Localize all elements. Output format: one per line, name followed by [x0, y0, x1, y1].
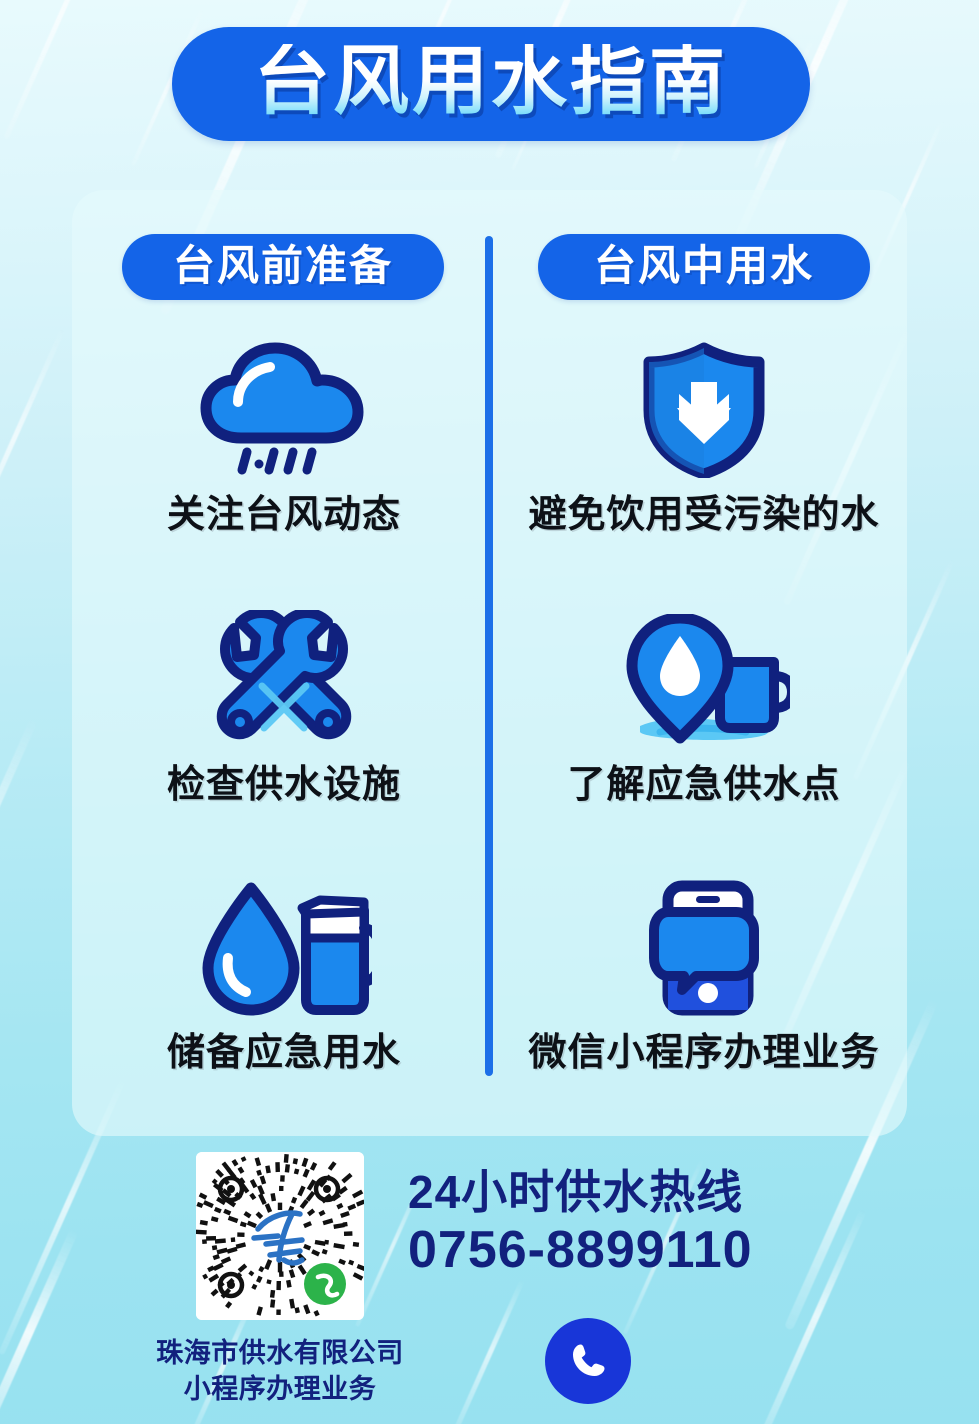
column-header-during-typhoon: 台风中用水: [538, 234, 870, 300]
list-item-label: 了解应急供水点: [567, 766, 840, 804]
shield-down-arrow-icon: [639, 340, 769, 478]
list-item-label: 检查供水设施: [167, 766, 401, 804]
qr-caption: 珠海市供水有限公司 小程序办理业务: [110, 1336, 450, 1407]
list-item-label: 避免饮用受污染的水: [528, 496, 879, 534]
map-pin-water-mug-icon: [618, 610, 790, 748]
hotline-number[interactable]: 0756-8899110: [408, 1223, 828, 1278]
poster-title-pill: 台风用水指南: [172, 27, 810, 141]
rain-cloud-icon: [194, 340, 374, 478]
wechat-miniprogram-qr-code[interactable]: [196, 1152, 364, 1320]
column-header-before-typhoon: 台风前准备: [122, 234, 444, 300]
list-item-label: 关注台风动态: [167, 496, 401, 534]
phone-handset-icon: [564, 1337, 612, 1385]
list-item: 检查供水设施: [110, 610, 458, 804]
list-item: 微信小程序办理业务: [508, 878, 900, 1072]
column-header-label: 台风前准备: [173, 245, 393, 290]
phone-chat-bubble-icon: [646, 878, 762, 1016]
list-item: 储备应急用水: [110, 878, 458, 1072]
list-item: 了解应急供水点: [508, 610, 900, 804]
crossed-wrenches-icon: [204, 610, 364, 748]
list-item: 避免饮用受污染的水: [508, 340, 900, 534]
list-item-label: 储备应急用水: [167, 1034, 401, 1072]
qr-caption-line1: 珠海市供水有限公司: [110, 1336, 450, 1372]
list-item: 关注台风动态: [110, 340, 458, 534]
hotline-title: 24小时供水热线: [408, 1168, 828, 1217]
phone-call-button[interactable]: [545, 1318, 631, 1404]
page-title: 台风用水指南: [254, 44, 728, 125]
qr-caption-line2: 小程序办理业务: [110, 1372, 450, 1408]
column-divider: [485, 236, 493, 1076]
poster-root: 台风用水指南 台风前准备 台风中用水 关注台风动态: [0, 0, 979, 1424]
hotline-block: 24小时供水热线 0756-8899110: [408, 1168, 828, 1278]
list-item-label: 微信小程序办理业务: [528, 1034, 879, 1072]
water-drop-pitcher-icon: [196, 878, 372, 1016]
column-header-label: 台风中用水: [594, 245, 814, 290]
